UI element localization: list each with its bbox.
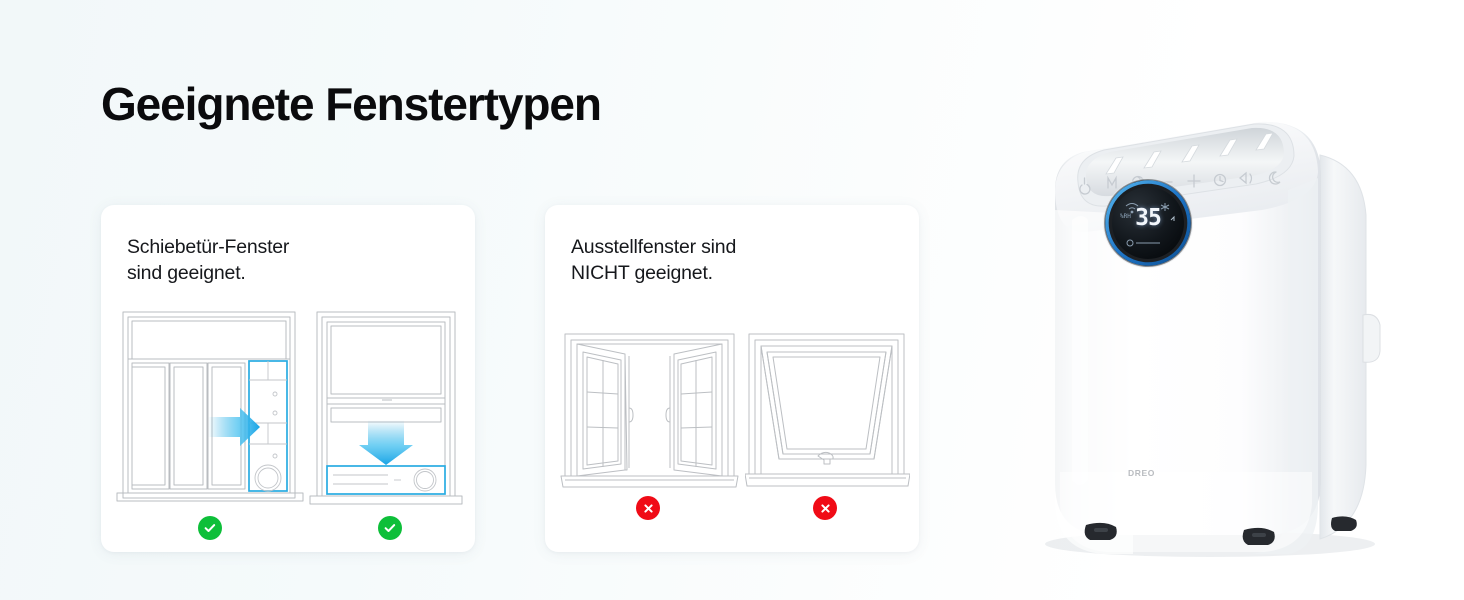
status-badge-ok-1 (198, 516, 222, 540)
card-sliding-title: Schiebetür-Fenster sind geeignet. (127, 235, 289, 286)
display-temperature-value: 35 (1128, 205, 1168, 231)
status-badge-ok-2 (378, 516, 402, 540)
status-badge-no-2 (813, 496, 837, 520)
figure-sliding-door-window (115, 308, 305, 513)
card-awning-title: Ausstellfenster sind NICHT geeignet. (571, 235, 736, 286)
sliding-door-window-icon (115, 308, 305, 508)
casement-window-icon (557, 330, 742, 490)
status-badge-no-1 (636, 496, 660, 520)
page-title: Geeignete Fenstertypen (101, 74, 601, 134)
figure-double-hung-window (306, 308, 466, 513)
check-icon (383, 521, 397, 535)
card-awning-window: Ausstellfenster sind NICHT geeignet. (545, 205, 919, 552)
awning-window-icon (745, 330, 910, 490)
air-conditioner-icon: %RH (1020, 70, 1420, 570)
check-icon (203, 521, 217, 535)
figure-awning-window (745, 330, 910, 495)
figure-casement-window (557, 330, 742, 495)
card-sliding-window: Schiebetür-Fenster sind geeignet. (101, 205, 475, 552)
arrow-down-icon (359, 420, 413, 465)
product-image-air-conditioner: %RH (1020, 70, 1420, 570)
product-brand-logo: DREO (1128, 468, 1155, 478)
cross-icon (819, 502, 832, 515)
double-hung-window-icon (306, 308, 466, 508)
cross-icon (642, 502, 655, 515)
